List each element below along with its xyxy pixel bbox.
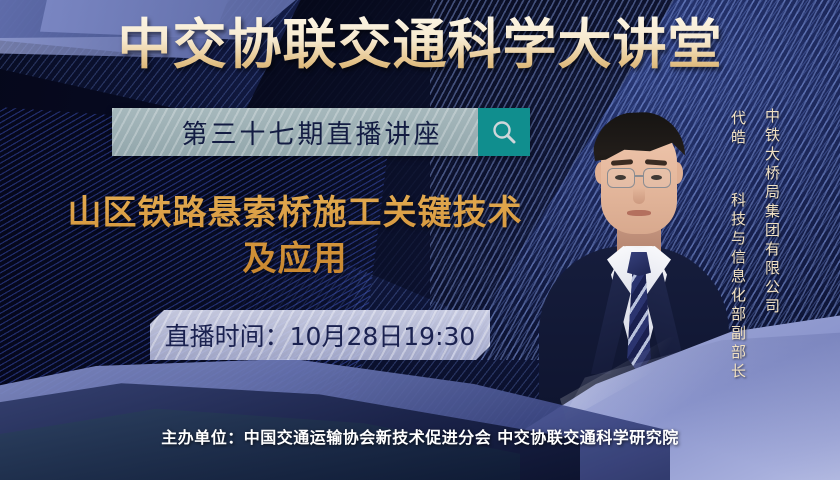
portrait-mouth bbox=[627, 210, 651, 216]
speaker-organization: 中铁大桥局集团有限公司 bbox=[762, 108, 783, 317]
lecture-title-line-1: 山区铁路悬索桥施工关键技术 bbox=[30, 190, 560, 236]
lecture-title: 山区铁路悬索桥施工关键技术 及应用 bbox=[30, 190, 560, 282]
webinar-poster: 中交协联交通科学大讲堂 第三十七期直播讲座 山区铁路悬索桥施工关键技术 及应用 … bbox=[0, 0, 840, 480]
schedule-box: 直播时间：10月28日19:30 bbox=[150, 310, 490, 360]
episode-search-bar[interactable]: 第三十七期直播讲座 bbox=[112, 108, 530, 156]
portrait-tie-knot bbox=[627, 252, 651, 276]
portrait-glasses-bridge bbox=[634, 175, 644, 177]
portrait-glasses-left-lens bbox=[607, 168, 635, 188]
episode-label: 第三十七期直播讲座 bbox=[147, 114, 442, 151]
lecture-title-line-2: 及应用 bbox=[30, 236, 560, 282]
episode-search-field[interactable]: 第三十七期直播讲座 bbox=[112, 108, 478, 156]
portrait-nose bbox=[633, 188, 645, 204]
portrait-glasses-right-lens bbox=[643, 168, 671, 188]
search-icon bbox=[490, 118, 518, 146]
footer-organizers: 主办单位：中国交通运输协会新技术促进分会 中交协联交通科学研究院 bbox=[0, 424, 840, 448]
search-button[interactable] bbox=[478, 108, 530, 156]
main-title: 中交协联交通科学大讲堂 bbox=[0, 14, 840, 76]
speaker-name-title: 代皓 科技与信息化部副部长 bbox=[728, 110, 749, 382]
schedule-text: 直播时间：10月28日19:30 bbox=[165, 317, 476, 353]
